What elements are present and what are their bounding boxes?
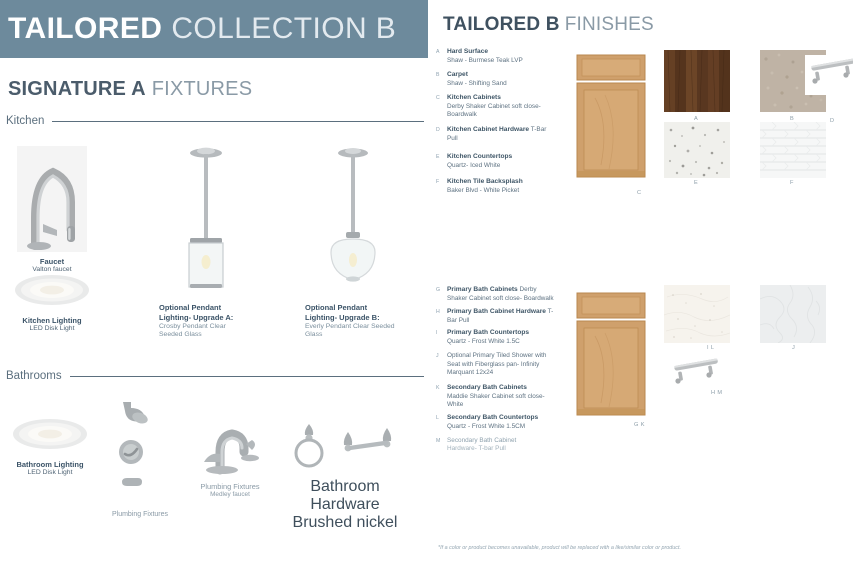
legend-body: Secondary Bath Cabinets Maddie Shaker Ca… [447,384,554,410]
left-column: TAILORED COLLECTION B SIGNATURE A FIXTUR… [0,0,430,569]
bathroom-lighting-sub: LED Disk Light [8,469,92,477]
legend-key: B [436,71,447,88]
legend-item: D Kitchen Cabinet Hardware T-Bar Pull [436,126,554,143]
bath-hardware-pull-swatch [668,355,724,395]
legend-sub: Baker Blvd - White Picket [447,187,519,194]
pendant-b-figure [315,140,391,290]
legend-sub: Shaw - Shifting Sand [447,80,507,87]
kitchen-label-text: Kitchen [6,115,44,127]
bathroom-hardware-figure [290,420,405,474]
pendant-b-caption: Optional Pendant Lighting- Upgrade B: Ev… [305,303,397,340]
swatch-label-gk: G K [634,422,645,428]
legend-key: D [436,126,447,143]
plumbing-fixtures-title: Plumbing Fixtures [104,511,176,518]
signature-fixtures-heading: SIGNATURE A FIXTURES [8,78,252,101]
medley-faucet-caption: Plumbing Fixtures Medley faucet [185,482,275,498]
faucet-figure: Faucet Valton faucet [14,146,90,275]
bath-countertop-swatch [664,285,730,343]
faucet-title: Faucet [14,257,90,266]
legend-item: F Kitchen Tile Backsplash Baker Blvd - W… [436,178,554,195]
kitchen-lighting-sub: LED Disk Light [10,325,94,333]
medley-faucet-title: Plumbing Fixtures [185,482,275,491]
bathrooms-label-text: Bathrooms [6,370,62,382]
legend-title: Kitchen Cabinet Hardware [447,126,529,133]
crosby-pendant-image [168,140,244,290]
medley-faucet-figure [188,418,272,476]
kitchen-backsplash-swatch [760,122,826,178]
legend-key: I [436,329,447,346]
kitchen-lighting-figure: Kitchen Lighting LED Disk Light [10,270,94,334]
legend-item: H Primary Bath Cabinet Hardware T-Bar Pu… [436,308,554,325]
pendant-a-title: Optional Pendant Lighting- Upgrade A: [159,303,251,323]
legend-key: E [436,153,447,170]
legend-title: Carpet [447,71,468,78]
legend-key: H [436,308,447,325]
plumbing-fixtures-caption: Plumbing Fixtures [104,511,176,518]
legend-title: Secondary Bath Countertops [447,414,538,421]
pendant-b-title: Optional Pendant Lighting- Upgrade B: [305,303,397,323]
legend-item: L Secondary Bath Countertops Quartz - Fr… [436,414,554,431]
footnote-text: *If a color or product becomes unavailab… [438,545,681,551]
legend-key: C [436,94,447,120]
legend-body: Carpet Shaw - Shifting Sand [447,71,507,88]
legend-key: A [436,48,447,65]
pendant-a-sub: Crosby Pendant Clear Seeded Glass [159,323,251,341]
legend-key: J [436,352,447,377]
legend-body: Hard Surface Shaw - Burmese Teak LVP [447,48,523,65]
medley-faucet-image [190,418,270,476]
header-title-light: COLLECTION B [171,12,396,46]
legend-item: J Optional Primary Tiled Shower with Sea… [436,352,554,377]
faucet-image [17,146,87,252]
legend-item: G Primary Bath Cabinets Derby Shaker Cab… [436,286,554,303]
bathrooms-divider [70,376,424,377]
bathroom-lighting-title: Bathroom Lighting [8,460,92,469]
legend-body: Kitchen Tile Backsplash Baker Blvd - Whi… [447,178,523,195]
legend-title: Secondary Bath Cabinets [447,384,527,391]
swatch-label-j: J [792,345,795,351]
legend-item: M Secondary Bath Cabinet Hardware- T-bar… [436,437,554,454]
signature-heading-bold: SIGNATURE A [8,78,146,101]
finishes-legend-top: A Hard Surface Shaw - Burmese Teak LVP B… [436,48,554,199]
legend-title: Hard Surface [447,48,488,55]
legend-key: K [436,384,447,410]
swatch-label-d: D [830,118,834,124]
legend-key: G [436,286,447,303]
legend-body: Primary Bath Countertops Quartz - Frost … [447,329,529,346]
kitchen-divider [52,121,424,122]
finishes-legend-bottom: G Primary Bath Cabinets Derby Shaker Cab… [436,286,554,458]
legend-title: Primary Bath Cabinets [447,286,518,293]
finishes-heading-light: FINISHES [565,14,654,36]
finishes-heading-bold: TAILORED B [443,14,560,36]
design-board-page: TAILORED COLLECTION B SIGNATURE A FIXTUR… [0,0,853,569]
legend-body: Primary Bath Cabinets Derby Shaker Cabin… [447,286,554,303]
legend-title: Kitchen Countertops [447,153,512,160]
swatch-label-hm: H M [711,390,722,396]
swatch-label-c: C [637,190,641,196]
hard-surface-swatch [664,50,730,112]
kitchen-disk-light-image [13,270,91,310]
legend-body: Secondary Bath Cabinet Hardware- T-bar P… [447,437,516,454]
medley-faucet-sub: Medley faucet [185,491,275,498]
legend-item: E Kitchen Countertops Quartz- Iced White [436,153,554,170]
bathroom-lighting-figure: Bathroom Lighting LED Disk Light [8,414,92,478]
legend-item: A Hard Surface Shaw - Burmese Teak LVP [436,48,554,65]
pendant-a-caption: Optional Pendant Lighting- Upgrade A: Cr… [159,303,251,340]
swatch-label-f: F [790,180,794,186]
kitchen-lighting-title: Kitchen Lighting [10,316,94,325]
legend-key: M [436,437,447,454]
main-header-bar: TAILORED COLLECTION B [0,0,428,58]
legend-sub: Quartz - Frost White 1.5CM [447,423,525,430]
legend-body: Primary Bath Cabinet Hardware T-Bar Pull [447,308,554,325]
legend-body: Kitchen Cabinets Derby Shaker Cabinet so… [447,94,554,120]
everly-pendant-image [315,140,391,290]
legend-title: Kitchen Cabinets [447,94,501,101]
bathroom-disk-light-image [11,414,89,454]
legend-item: I Primary Bath Countertops Quartz - Fros… [436,329,554,346]
legend-key: F [436,178,447,195]
right-column: TAILORED B FINISHES A Hard Surface Shaw … [430,0,853,569]
kitchen-section-label: Kitchen [6,115,424,127]
legend-body: Secondary Bath Countertops Quartz - Fros… [447,414,538,431]
kitchen-hardware-pull-swatch [805,55,853,95]
towel-ring-bar-image [292,420,404,474]
bathroom-hardware-caption: Bathroom Hardware Brushed nickel [280,478,410,532]
swatch-label-e: E [694,180,698,186]
bathrooms-section-label: Bathrooms [6,370,424,382]
legend-item: B Carpet Shaw - Shifting Sand [436,71,554,88]
legend-title: Optional Primary Tiled Shower with Seat … [447,352,546,376]
legend-body: Optional Primary Tiled Shower with Seat … [447,352,554,377]
bathroom-hardware-sub: Brushed nickel [280,514,410,532]
plumbing-fixtures-figure [105,396,175,496]
legend-sub: Derby Shaker Cabinet soft close- Boardwa… [447,103,541,118]
legend-title: Kitchen Tile Backsplash [447,178,523,185]
legend-sub: Shaw - Burmese Teak LVP [447,57,523,64]
bath-cabinet-door-swatch [575,291,647,418]
kitchen-countertop-swatch [664,122,730,178]
legend-item: C Kitchen Cabinets Derby Shaker Cabinet … [436,94,554,120]
bathroom-hardware-title: Bathroom Hardware [280,478,410,514]
swatch-label-il: I L [707,345,714,351]
shower-tile-swatch [760,285,826,343]
legend-item: K Secondary Bath Cabinets Maddie Shaker … [436,384,554,410]
legend-sub: Maddie Shaker Cabinet soft close- White [447,393,545,408]
finishes-heading: TAILORED B FINISHES [443,14,654,36]
legend-title: Secondary Bath Cabinet [447,437,516,444]
signature-heading-light: FIXTURES [152,78,253,101]
legend-body: Kitchen Countertops Quartz- Iced White [447,153,512,170]
kitchen-cabinet-door-swatch [575,53,647,180]
legend-title: Primary Bath Countertops [447,329,529,336]
header-title-bold: TAILORED [8,12,162,46]
legend-sub: Hardware- T-bar Pull [447,445,506,452]
legend-sub: Quartz - Frost White 1.5C [447,338,520,345]
pendant-a-figure [168,140,244,290]
legend-title: Primary Bath Cabinet Hardware [447,308,546,315]
legend-body: Kitchen Cabinet Hardware T-Bar Pull [447,126,554,143]
legend-key: L [436,414,447,431]
legend-sub: Quartz- Iced White [447,162,500,169]
pendant-b-sub: Everly Pendant Clear Seeded Glass [305,323,397,341]
shower-trim-image [109,396,171,496]
